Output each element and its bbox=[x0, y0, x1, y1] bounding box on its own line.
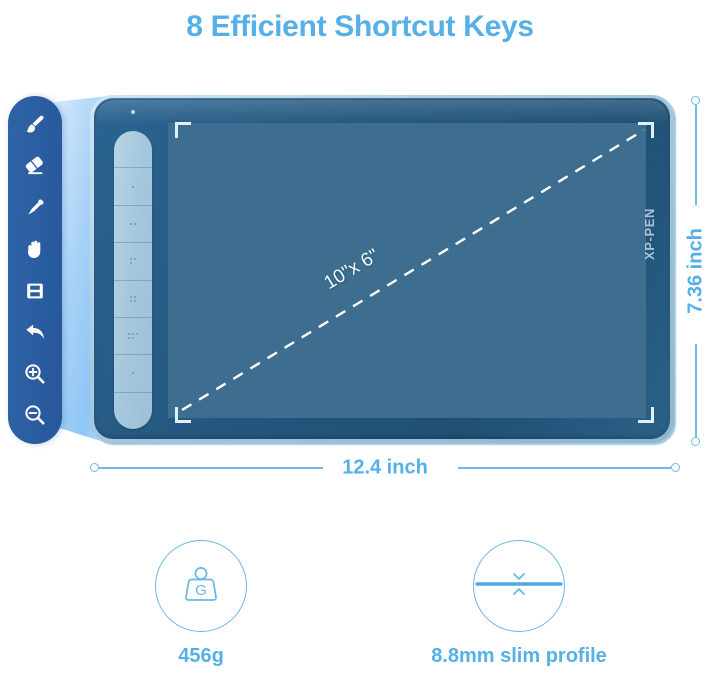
brush-icon-slot[interactable] bbox=[15, 108, 55, 142]
hand-icon bbox=[22, 236, 48, 262]
height-dimension: 7.36 inch bbox=[680, 96, 720, 446]
page-title: 8 Efficient Shortcut Keys bbox=[0, 0, 720, 50]
feature-list: G 456g 8.8mm slim profile bbox=[0, 540, 720, 668]
dimension-line bbox=[458, 467, 671, 469]
tablet-active-area bbox=[168, 123, 646, 418]
shortcut-key[interactable] bbox=[114, 318, 152, 355]
thickness-icon bbox=[474, 556, 564, 617]
led-indicator-icon bbox=[131, 110, 135, 114]
dimension-line bbox=[695, 344, 697, 437]
save-icon-slot[interactable] bbox=[15, 274, 55, 308]
feature-thickness: 8.8mm slim profile bbox=[424, 540, 614, 668]
weight-icon-circle: G bbox=[155, 540, 247, 632]
zoom-out-icon-slot[interactable] bbox=[15, 398, 55, 432]
width-dimension-label: 12.4 inch bbox=[342, 457, 428, 480]
eraser-icon-slot[interactable] bbox=[15, 149, 55, 183]
shortcut-key[interactable] bbox=[114, 281, 152, 318]
thickness-icon-circle bbox=[473, 540, 565, 632]
weight-icon-text: G bbox=[195, 582, 207, 599]
save-icon bbox=[22, 278, 48, 304]
shortcut-key[interactable] bbox=[114, 206, 152, 243]
brush-icon bbox=[22, 112, 48, 138]
dimension-line bbox=[99, 467, 323, 469]
chevron-down-icon bbox=[514, 574, 524, 579]
feature-weight: G 456g bbox=[106, 540, 296, 668]
shortcut-key-strip bbox=[114, 131, 152, 429]
active-area-corner-marker bbox=[175, 407, 191, 423]
active-area-corner-marker bbox=[175, 122, 191, 138]
dimension-line bbox=[695, 105, 697, 205]
feature-thickness-label: 8.8mm slim profile bbox=[431, 645, 607, 668]
undo-icon bbox=[22, 319, 48, 345]
dimension-endpoint bbox=[691, 96, 700, 105]
weight-icon: G bbox=[173, 556, 229, 617]
hand-icon-slot[interactable] bbox=[15, 232, 55, 266]
shortcut-key[interactable] bbox=[114, 243, 152, 280]
dimension-endpoint bbox=[671, 463, 680, 472]
shortcut-icon-panel bbox=[8, 96, 62, 444]
eyedropper-icon-slot[interactable] bbox=[15, 191, 55, 225]
dimension-endpoint bbox=[90, 463, 99, 472]
zoom-in-icon bbox=[22, 361, 48, 387]
eyedropper-icon bbox=[22, 195, 48, 221]
shortcut-key[interactable] bbox=[114, 355, 152, 392]
active-area-corner-marker bbox=[638, 407, 654, 423]
brand-logo: XP-PEN bbox=[642, 208, 657, 260]
shortcut-key[interactable] bbox=[114, 131, 152, 168]
undo-icon-slot[interactable] bbox=[15, 315, 55, 349]
zoom-out-icon bbox=[22, 402, 48, 428]
height-dimension-label: 7.36 inch bbox=[685, 228, 708, 314]
eraser-icon bbox=[22, 153, 48, 179]
active-area-corner-marker bbox=[638, 122, 654, 138]
shortcut-key[interactable] bbox=[114, 393, 152, 429]
shortcut-key[interactable] bbox=[114, 168, 152, 205]
dimension-endpoint bbox=[691, 437, 700, 446]
chevron-up-icon bbox=[514, 589, 524, 594]
feature-weight-label: 456g bbox=[178, 645, 224, 668]
zoom-in-icon-slot[interactable] bbox=[15, 357, 55, 391]
width-dimension: 12.4 inch bbox=[90, 450, 680, 486]
